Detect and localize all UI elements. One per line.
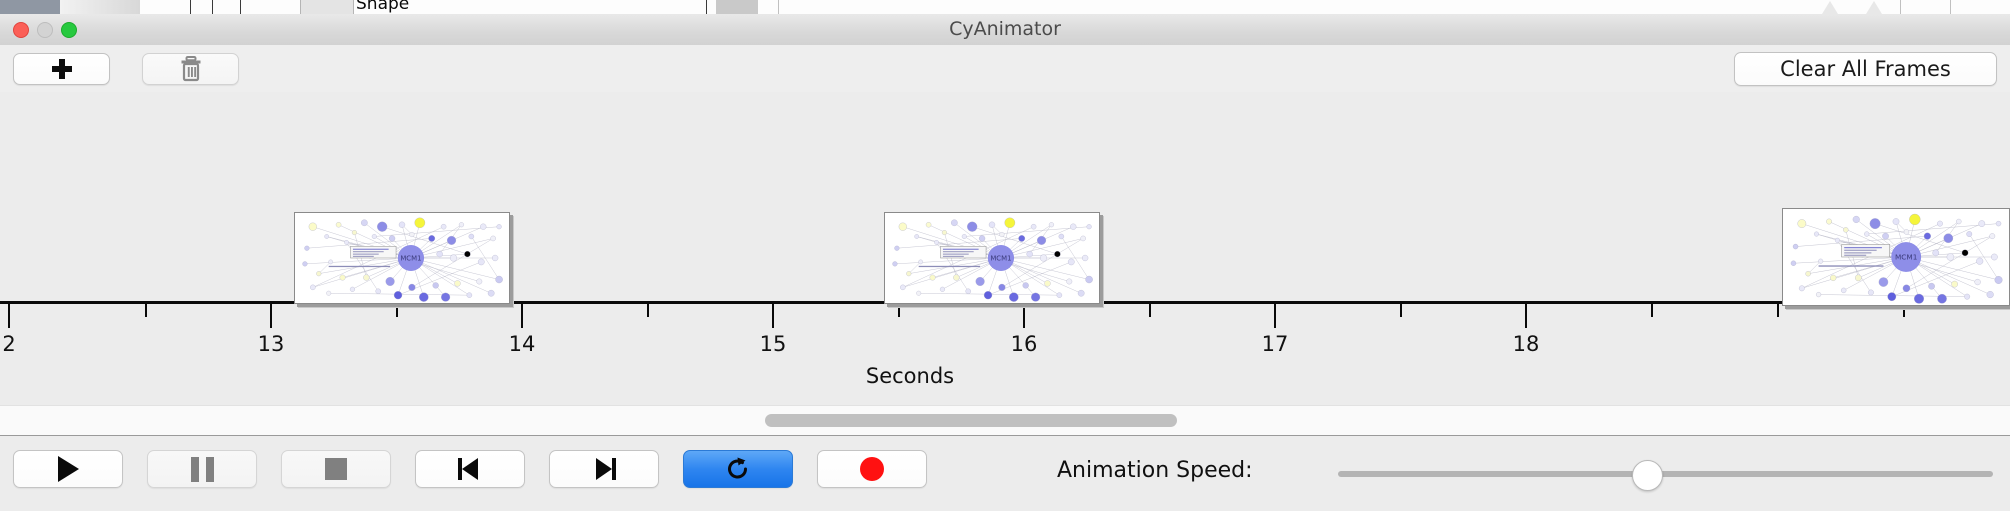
- timeline-frame-thumbnail[interactable]: MCM1: [1782, 208, 2010, 306]
- bg-panel-gradient: [60, 0, 140, 14]
- animation-speed-label: Animation Speed:: [1057, 458, 1253, 483]
- play-icon: [58, 456, 79, 482]
- stop-button[interactable]: [281, 450, 391, 488]
- bg-divider: [212, 0, 213, 14]
- timeline-tick: [1525, 304, 1527, 328]
- svg-text:MCM1: MCM1: [1895, 253, 1917, 262]
- skip-back-icon: [458, 457, 482, 481]
- timeline-frame-thumbnail[interactable]: MCM1: [884, 212, 1100, 304]
- bg-divider: [706, 0, 707, 14]
- skip-to-end-button[interactable]: [549, 450, 659, 488]
- timeline-tick: [145, 304, 147, 317]
- playback-controls-bar: Animation Speed:: [0, 435, 2010, 511]
- record-dot-icon: [860, 457, 884, 481]
- loop-refresh-icon: [724, 455, 752, 483]
- bg-divider: [778, 0, 779, 14]
- skip-forward-icon: [592, 457, 616, 481]
- timeline-panel[interactable]: 2131415161718 MCM1MCM1MCM1 Seconds: [0, 92, 2010, 405]
- timeline-tick-label: 18: [1513, 332, 1540, 356]
- stop-icon: [325, 458, 347, 480]
- background-application-strip: Shape: [0, 0, 2010, 15]
- bg-panel-dark: [0, 0, 60, 14]
- record-button[interactable]: [817, 450, 927, 488]
- slider-track[interactable]: [1338, 471, 1993, 477]
- timeline-tick: [772, 304, 774, 328]
- clear-all-frames-button[interactable]: Clear All Frames: [1734, 52, 1997, 86]
- plus-icon: [51, 58, 73, 80]
- timeline-tick-label: 14: [509, 332, 536, 356]
- minimize-icon[interactable]: [37, 22, 53, 38]
- bg-shape-label: Shape: [356, 0, 409, 14]
- timeline-tick: [1400, 304, 1402, 317]
- loop-button[interactable]: [683, 450, 793, 488]
- timeline-tick: [1777, 304, 1779, 317]
- timeline-tick: [8, 304, 10, 328]
- timeline-tick: [1651, 304, 1653, 317]
- window-titlebar[interactable]: CyAnimator: [0, 14, 2010, 46]
- timeline-tick: [1149, 304, 1151, 317]
- play-button[interactable]: [13, 450, 123, 488]
- timeline-tick-label: 17: [1262, 332, 1289, 356]
- bg-field: [300, 0, 354, 14]
- add-frame-button[interactable]: [13, 53, 110, 85]
- timeline-tick: [521, 304, 523, 328]
- trash-icon: [178, 55, 204, 83]
- timeline-tick-label: 13: [258, 332, 285, 356]
- network-graph-thumbnail: MCM1: [295, 213, 509, 303]
- timeline-tick-label: 16: [1011, 332, 1038, 356]
- pause-button[interactable]: [147, 450, 257, 488]
- skip-to-start-button[interactable]: [415, 450, 525, 488]
- network-graph-thumbnail: MCM1: [1783, 209, 2009, 305]
- timeline-tick-label: 2: [2, 332, 15, 356]
- window-title: CyAnimator: [0, 14, 2010, 45]
- timeline-tick: [647, 304, 649, 317]
- cyanimator-window: Shape CyAnimator: [0, 0, 2010, 510]
- svg-text:MCM1: MCM1: [400, 255, 421, 263]
- close-icon[interactable]: [13, 22, 29, 38]
- bg-divider: [1900, 0, 1901, 14]
- bg-triangle: [1822, 1, 1838, 14]
- svg-text:MCM1: MCM1: [990, 255, 1011, 263]
- frame-toolbar: Clear All Frames: [0, 45, 2010, 93]
- timeline-frame-thumbnail[interactable]: MCM1: [294, 212, 510, 304]
- timeline-scrollbar[interactable]: [0, 405, 2010, 436]
- timeline-tick: [270, 304, 272, 328]
- bg-divider: [240, 0, 241, 14]
- bg-divider: [1950, 0, 1951, 14]
- bg-divider: [190, 0, 191, 14]
- scrollbar-thumb[interactable]: [765, 414, 1177, 427]
- animation-speed-slider[interactable]: [1338, 460, 1993, 488]
- slider-thumb[interactable]: [1632, 460, 1663, 491]
- pause-icon: [191, 457, 214, 482]
- bg-triangle: [1866, 1, 1882, 14]
- window-traffic-lights: [13, 22, 77, 38]
- timeline-tick: [898, 304, 900, 317]
- timeline-tick-label: 15: [760, 332, 787, 356]
- bg-notch: [716, 0, 758, 14]
- maximize-icon[interactable]: [61, 22, 77, 38]
- timeline-tick: [1274, 304, 1276, 328]
- timeline-tick: [396, 304, 398, 317]
- clear-all-frames-label: Clear All Frames: [1780, 57, 1951, 81]
- delete-frame-button[interactable]: [142, 53, 239, 85]
- timeline-axis-title: Seconds: [0, 364, 1820, 388]
- timeline-tick: [1023, 304, 1025, 328]
- network-graph-thumbnail: MCM1: [885, 213, 1099, 303]
